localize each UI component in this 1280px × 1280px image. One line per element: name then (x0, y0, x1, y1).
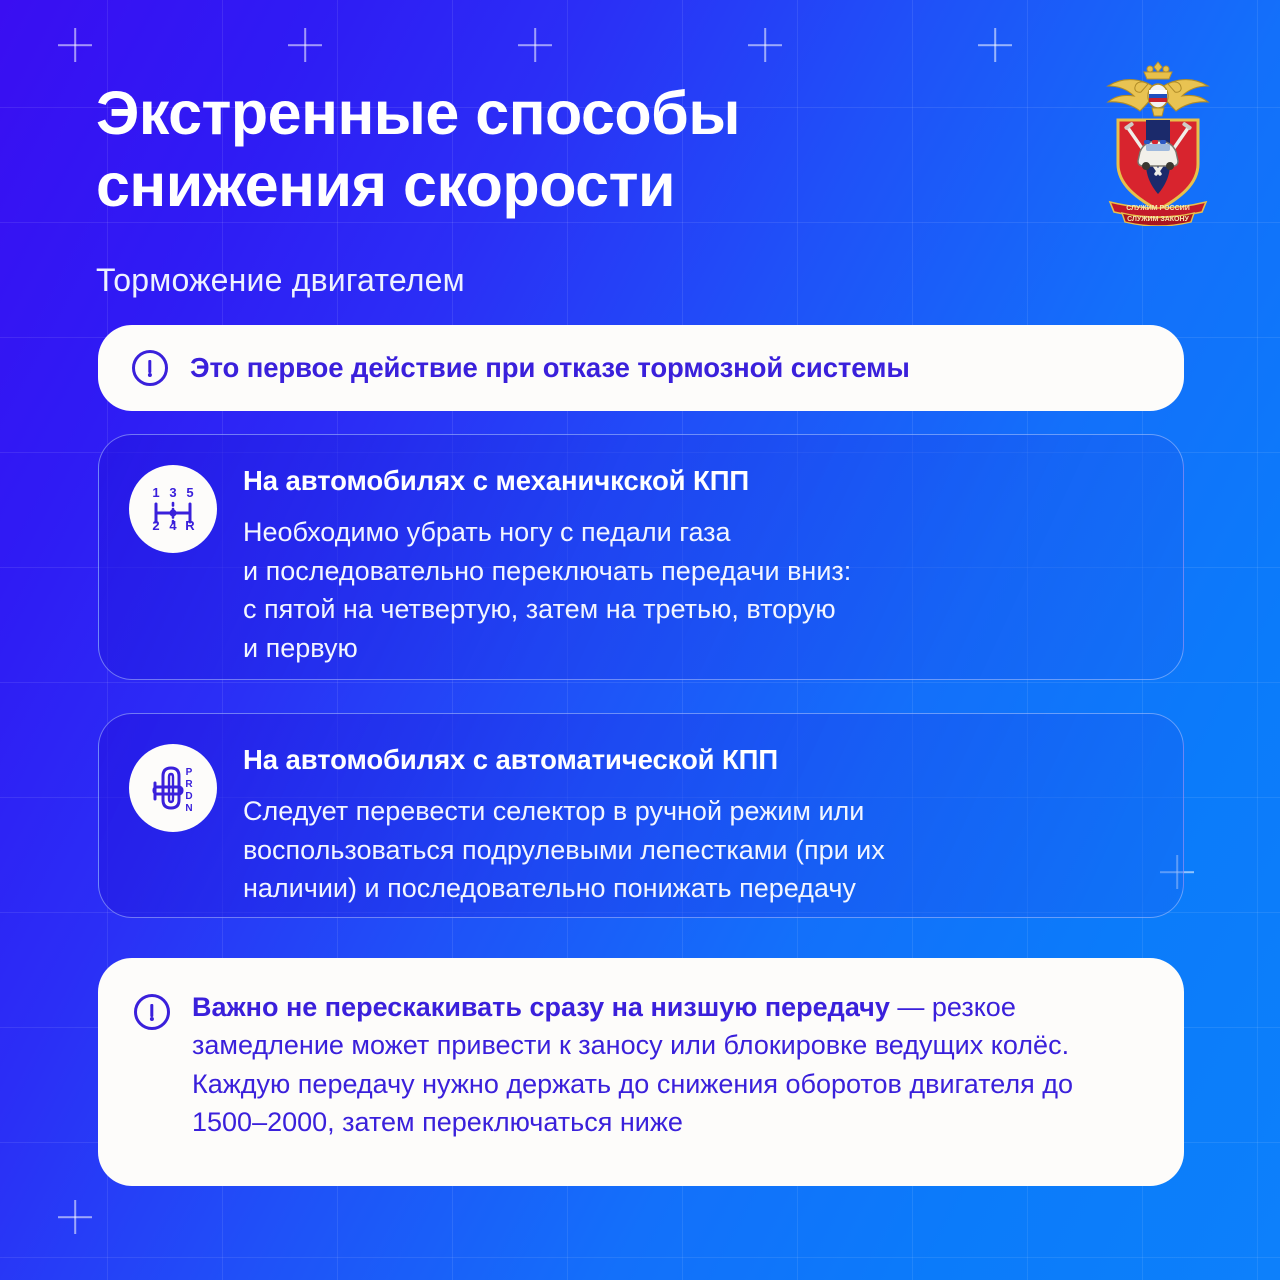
alert-card-text: Это первое действие при отказе тормозной… (190, 352, 910, 384)
alert-card-first-action: Это первое действие при отказе тормозной… (98, 325, 1184, 411)
decorative-cross-icon (58, 28, 92, 62)
decorative-cross-icon (518, 28, 552, 62)
warning-card-do-not-skip-gears: Важно не перескакивать сразу на низшую п… (98, 958, 1184, 1186)
svg-text:5: 5 (186, 485, 193, 500)
card-automatic-transmission: P R D N На автомобилях с автоматической … (98, 713, 1184, 918)
card-manual-transmission: 135 24R На автомобилях с механичкской КП… (98, 434, 1184, 680)
emblem-ribbon-bottom: СЛУЖИМ ЗАКОНУ (1127, 216, 1189, 223)
warning-card-text: Важно не перескакивать сразу на низшую п… (192, 988, 1148, 1141)
page-subtitle: Торможение двигателем (96, 262, 1096, 299)
svg-text:3: 3 (169, 485, 176, 500)
card-automatic-heading: На автомобилях с автоматической КПП (243, 744, 1149, 776)
decorative-cross-icon (978, 28, 1012, 62)
svg-text:D: D (185, 791, 192, 802)
emblem-ribbon-top: СЛУЖИМ РОССИИ (1126, 205, 1189, 212)
header: Экстренные способы снижения скорости Тор… (96, 78, 1096, 299)
automatic-gear-selector-icon: P R D N (129, 744, 217, 832)
page-title: Экстренные способы снижения скорости (96, 78, 856, 222)
manual-gear-shift-pattern-icon: 135 24R (129, 465, 217, 553)
decorative-cross-icon (748, 28, 782, 62)
decorative-cross-icon (288, 28, 322, 62)
svg-text:P: P (186, 767, 193, 778)
exclamation-circle-icon (134, 994, 170, 1030)
svg-text:1: 1 (152, 485, 159, 500)
exclamation-circle-icon (132, 350, 168, 386)
russian-traffic-police-emblem-icon: СЛУЖИМ РОССИИ СЛУЖИМ ЗАКОНУ (1088, 56, 1228, 226)
warning-card-lead: Важно не перескакивать сразу на низшую п… (192, 992, 890, 1022)
card-automatic-body: Следует перевести селектор в ручной режи… (243, 792, 1149, 908)
card-manual-heading: На автомобилях с механичкской КПП (243, 465, 1149, 497)
decorative-cross-icon (58, 1200, 92, 1234)
svg-text:N: N (185, 803, 192, 814)
poster-root: Экстренные способы снижения скорости Тор… (0, 0, 1280, 1280)
card-manual-body: Необходимо убрать ногу с педали газа и п… (243, 513, 1149, 667)
svg-text:R: R (185, 779, 193, 790)
